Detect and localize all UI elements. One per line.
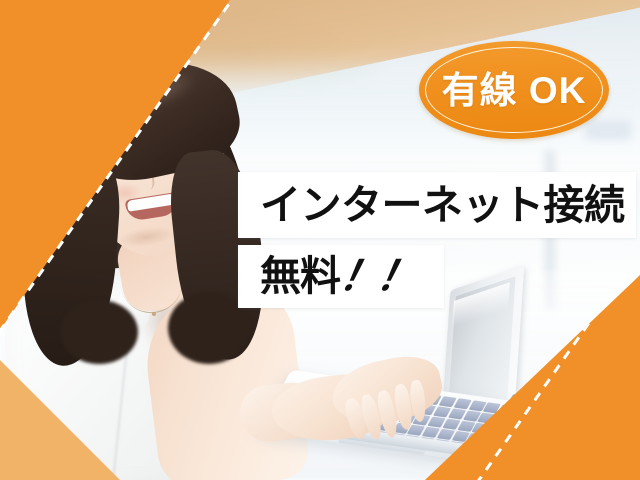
hair-curl-left: [60, 300, 138, 364]
promo-banner: 有線 OK インターネット接続 無料！！: [0, 0, 640, 480]
headline-line1: インターネット接続: [260, 185, 625, 226]
headline-line2-word: 無料: [260, 253, 340, 299]
badge-label: 有線 OK: [442, 72, 587, 109]
headline-line2: 無料！！: [260, 256, 414, 297]
wired-ok-badge: 有線 OK: [419, 41, 609, 139]
necklace-pendant: [152, 312, 156, 316]
headline-panel-line2: 無料！！: [238, 245, 444, 308]
photo-window-sill: [585, 120, 631, 140]
headline-panel-line1: インターネット接続: [238, 172, 636, 238]
headline-line2-marks: ！！: [336, 256, 419, 297]
